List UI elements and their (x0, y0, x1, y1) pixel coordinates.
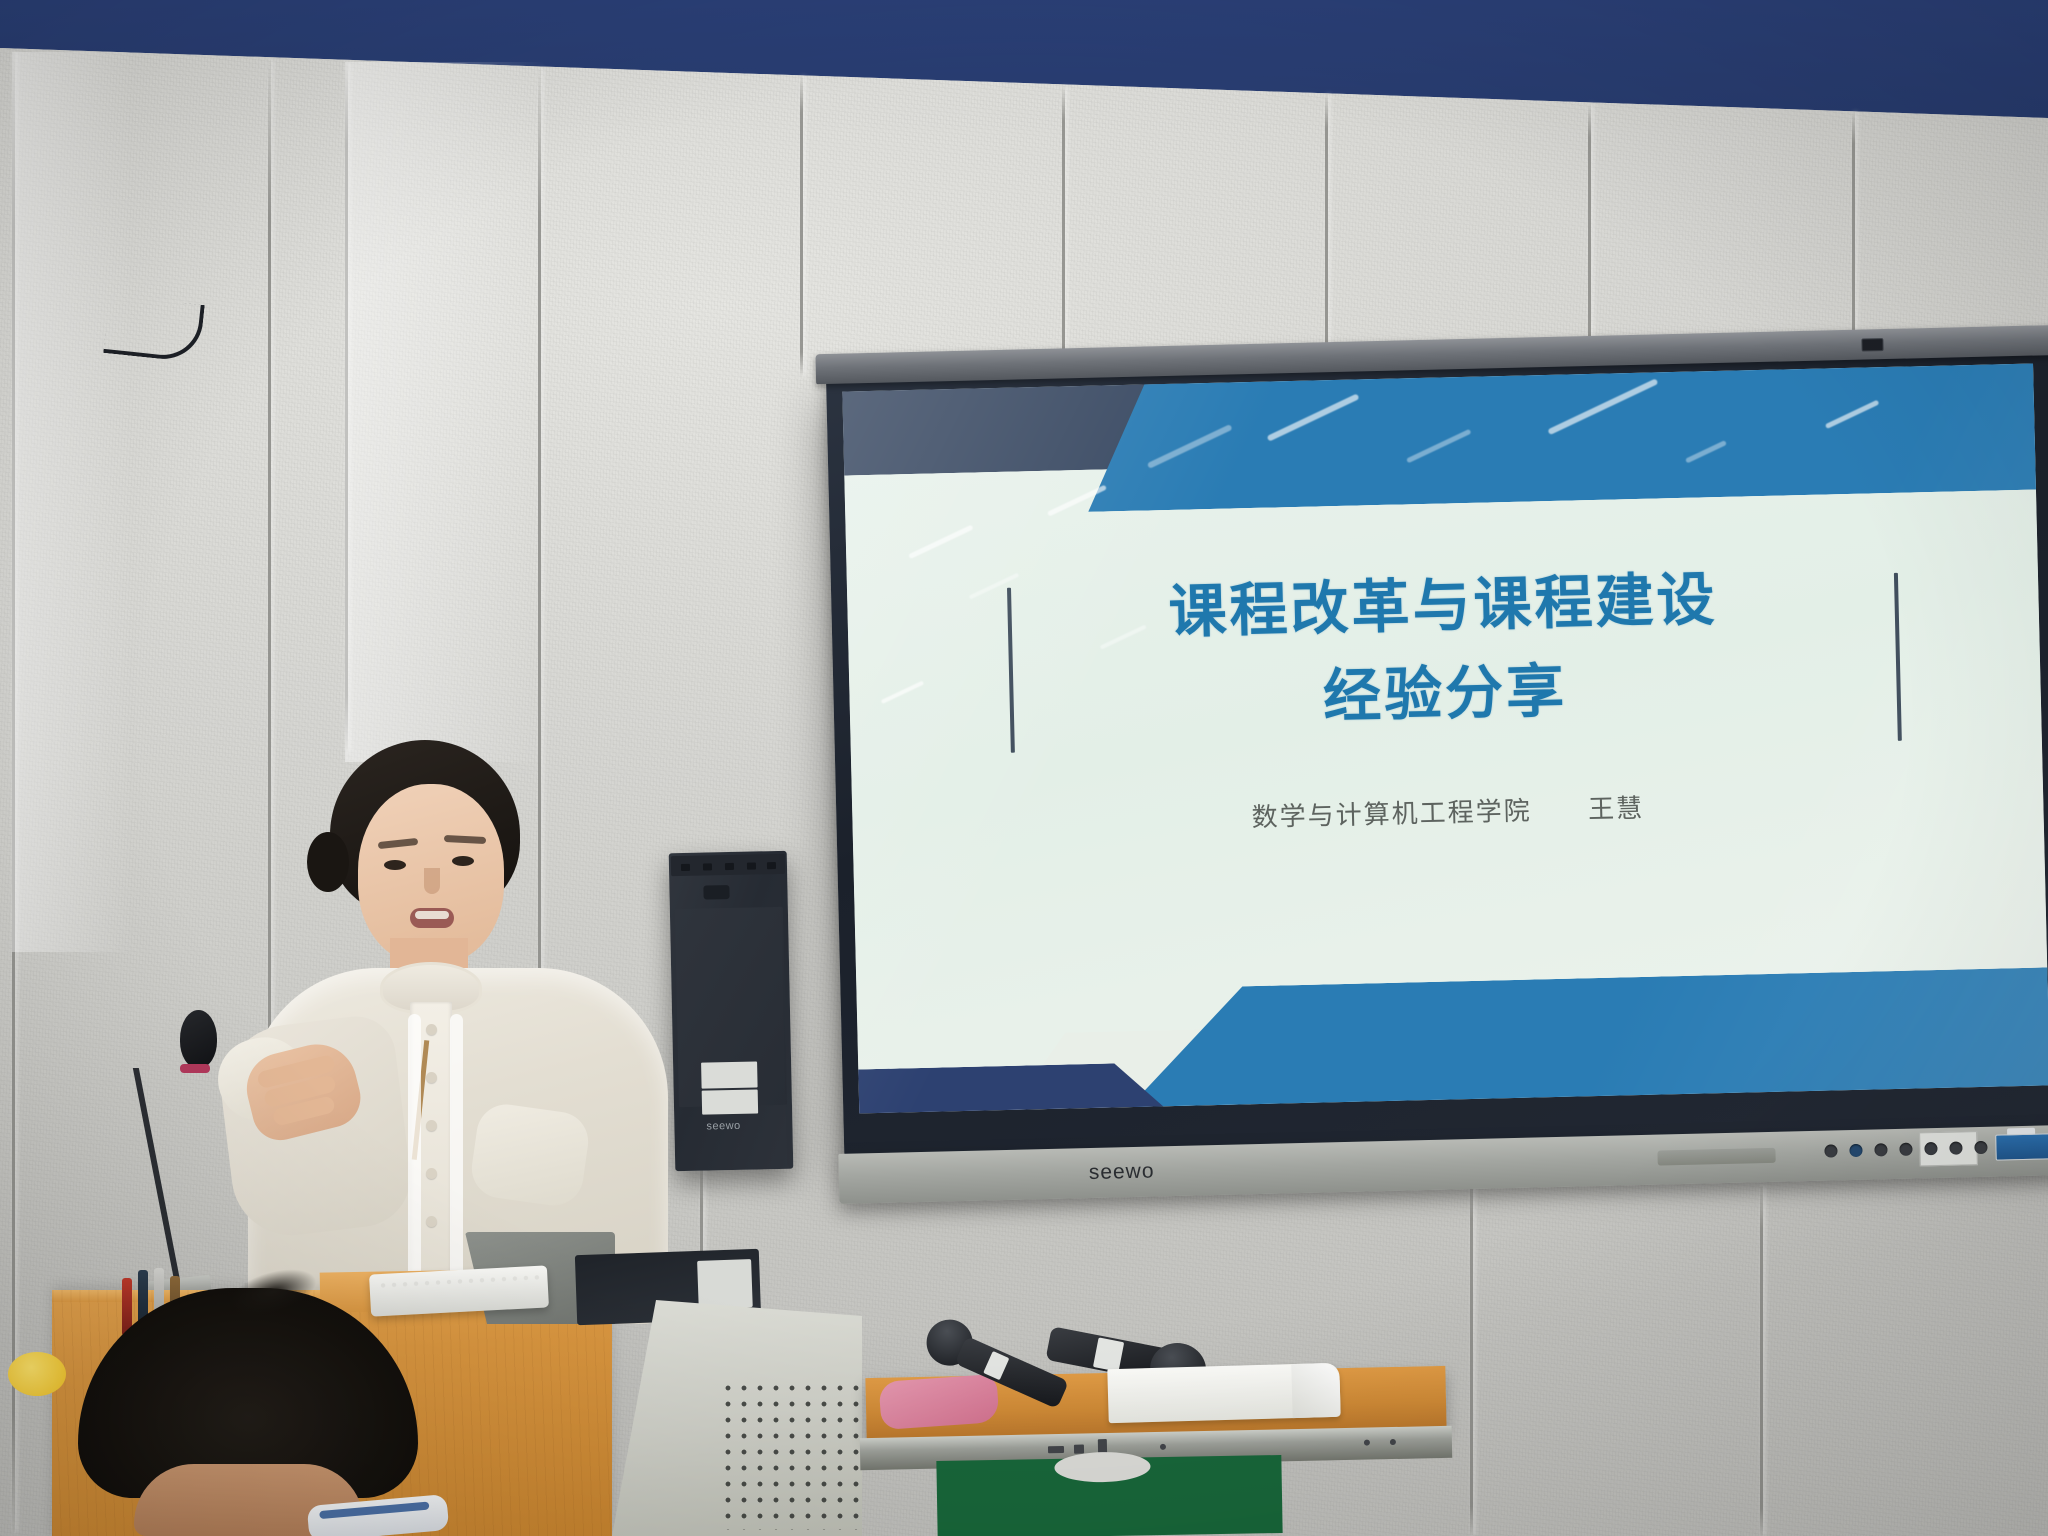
slide-bottom-blue-band (1124, 967, 2048, 1109)
menu-button-icon[interactable] (1874, 1143, 1887, 1156)
presentation-slide: 课程改革与课程建设 经验分享 数学与计算机工程学院 王慧 (842, 364, 2048, 1114)
rail-bolt (1048, 1446, 1064, 1453)
slide-top-blue-band (1085, 364, 2048, 512)
ops-brand-label: seewo (706, 1120, 741, 1133)
presenter-mouth (410, 908, 454, 928)
green-floor-mat (936, 1455, 1282, 1536)
wall-seam (800, 76, 803, 376)
rail-bolt (1364, 1440, 1370, 1446)
presenter-blouse-button (426, 1168, 437, 1179)
home-button-icon[interactable] (1849, 1144, 1862, 1157)
display-screen[interactable]: 课程改革与课程建设 经验分享 数学与计算机工程学院 王慧 (842, 364, 2048, 1114)
camera-icon (1861, 338, 1883, 352)
yellow-sticker (8, 1352, 66, 1396)
presenter-ruffle (408, 1014, 421, 1314)
display-io-strip (1657, 1148, 1775, 1166)
open-notebook (1107, 1363, 1340, 1423)
presenter-blouse-button (426, 1216, 437, 1227)
wall-seam (1470, 1175, 1473, 1535)
wall-seam (12, 52, 15, 1532)
slide-author-spacer (1541, 818, 1579, 819)
rail-bolt (1160, 1444, 1166, 1450)
screen-glare (908, 525, 973, 559)
speaker-grille (720, 1380, 860, 1530)
ops-port-slot (703, 885, 729, 900)
slide-title-line-1: 课程改革与课程建设 (1168, 567, 1718, 645)
presenter-blouse-button (426, 1120, 437, 1131)
presenter-right-sleeve (468, 1101, 592, 1210)
slide-author-name: 王慧 (1588, 793, 1645, 824)
rail-bolt (1390, 1439, 1396, 1445)
wall-seam (1760, 1186, 1763, 1536)
wall-seam (1062, 86, 1065, 376)
ops-serial-label (702, 1089, 758, 1114)
settings-button-icon[interactable] (1974, 1141, 1987, 1154)
presenter-eye (452, 856, 474, 866)
slide-title-line-2: 经验分享 (849, 637, 2042, 753)
slide-title: 课程改革与课程建设 经验分享 (847, 549, 2042, 753)
rail-bolt (1074, 1445, 1084, 1454)
presenter-blouse-button (426, 1072, 437, 1083)
presenter-blouse-button (426, 1024, 437, 1035)
ops-top-vents (671, 854, 785, 876)
wall-seam (345, 62, 348, 752)
volume-down-button-icon[interactable] (1899, 1143, 1912, 1156)
slide-author-line: 数学与计算机工程学院 王慧 (852, 778, 2044, 843)
classroom-photo: seewo 课程改革与课程建设 经验分享 数学与计算机工程学院 王慧 (0, 0, 2048, 1536)
microphone-indicator-ring (180, 1064, 210, 1073)
ops-spec-label (701, 1061, 758, 1088)
display-brand-logo: seewo (1089, 1159, 1155, 1185)
presenter-nose (424, 868, 440, 894)
power-button-icon[interactable] (1824, 1144, 1837, 1157)
presenter-eye (384, 860, 406, 870)
wall-seam (1325, 94, 1328, 376)
slide-author-department: 数学与计算机工程学院 (1251, 795, 1532, 832)
volume-up-button-icon[interactable] (1924, 1142, 1937, 1155)
display-blue-tag (1995, 1133, 2048, 1161)
interactive-flat-panel-display[interactable]: 课程改革与课程建设 经验分享 数学与计算机工程学院 王慧 (826, 349, 2048, 1158)
presenter-hair-bun (307, 832, 349, 892)
seewo-ops-module: seewo (669, 851, 794, 1171)
student-person (78, 1288, 418, 1536)
source-button-icon[interactable] (1949, 1141, 1962, 1154)
